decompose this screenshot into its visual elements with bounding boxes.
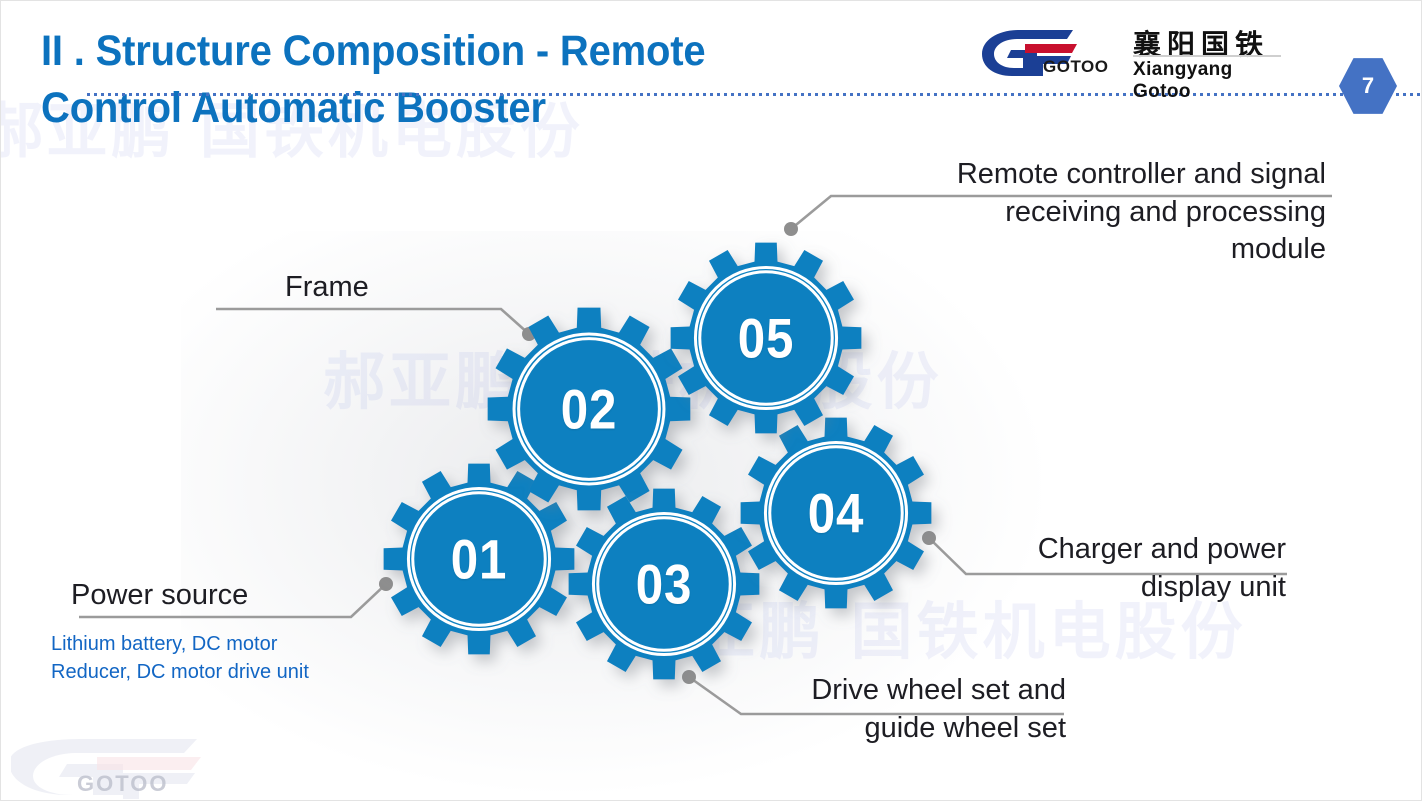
gear-number-05: 05	[738, 306, 795, 371]
callout-label-power-source: Power source	[71, 577, 248, 615]
callout-label-charger: Charger and power display unit	[881, 531, 1286, 606]
slide-root: 郝亚鹏 国铁机电股份 郝亚鹏 国铁机电股份 亚鹏 国铁机电股份 II . Str…	[0, 0, 1422, 801]
gear-number-04: 04	[808, 481, 865, 546]
gear-number-01: 01	[451, 527, 508, 592]
callout-label-remote-controller: Remote controller and signal receiving a…	[846, 156, 1326, 269]
gear-number-02: 02	[561, 377, 618, 442]
footer-brand-text: GOTOO	[77, 771, 169, 797]
gear-number-03: 03	[636, 552, 693, 617]
callout-sublabel-power-source: Lithium battery, DC motor Reducer, DC mo…	[51, 630, 309, 687]
callout-label-drive-wheel: Drive wheel set and guide wheel set	[701, 672, 1066, 747]
callout-label-frame: Frame	[285, 269, 369, 307]
